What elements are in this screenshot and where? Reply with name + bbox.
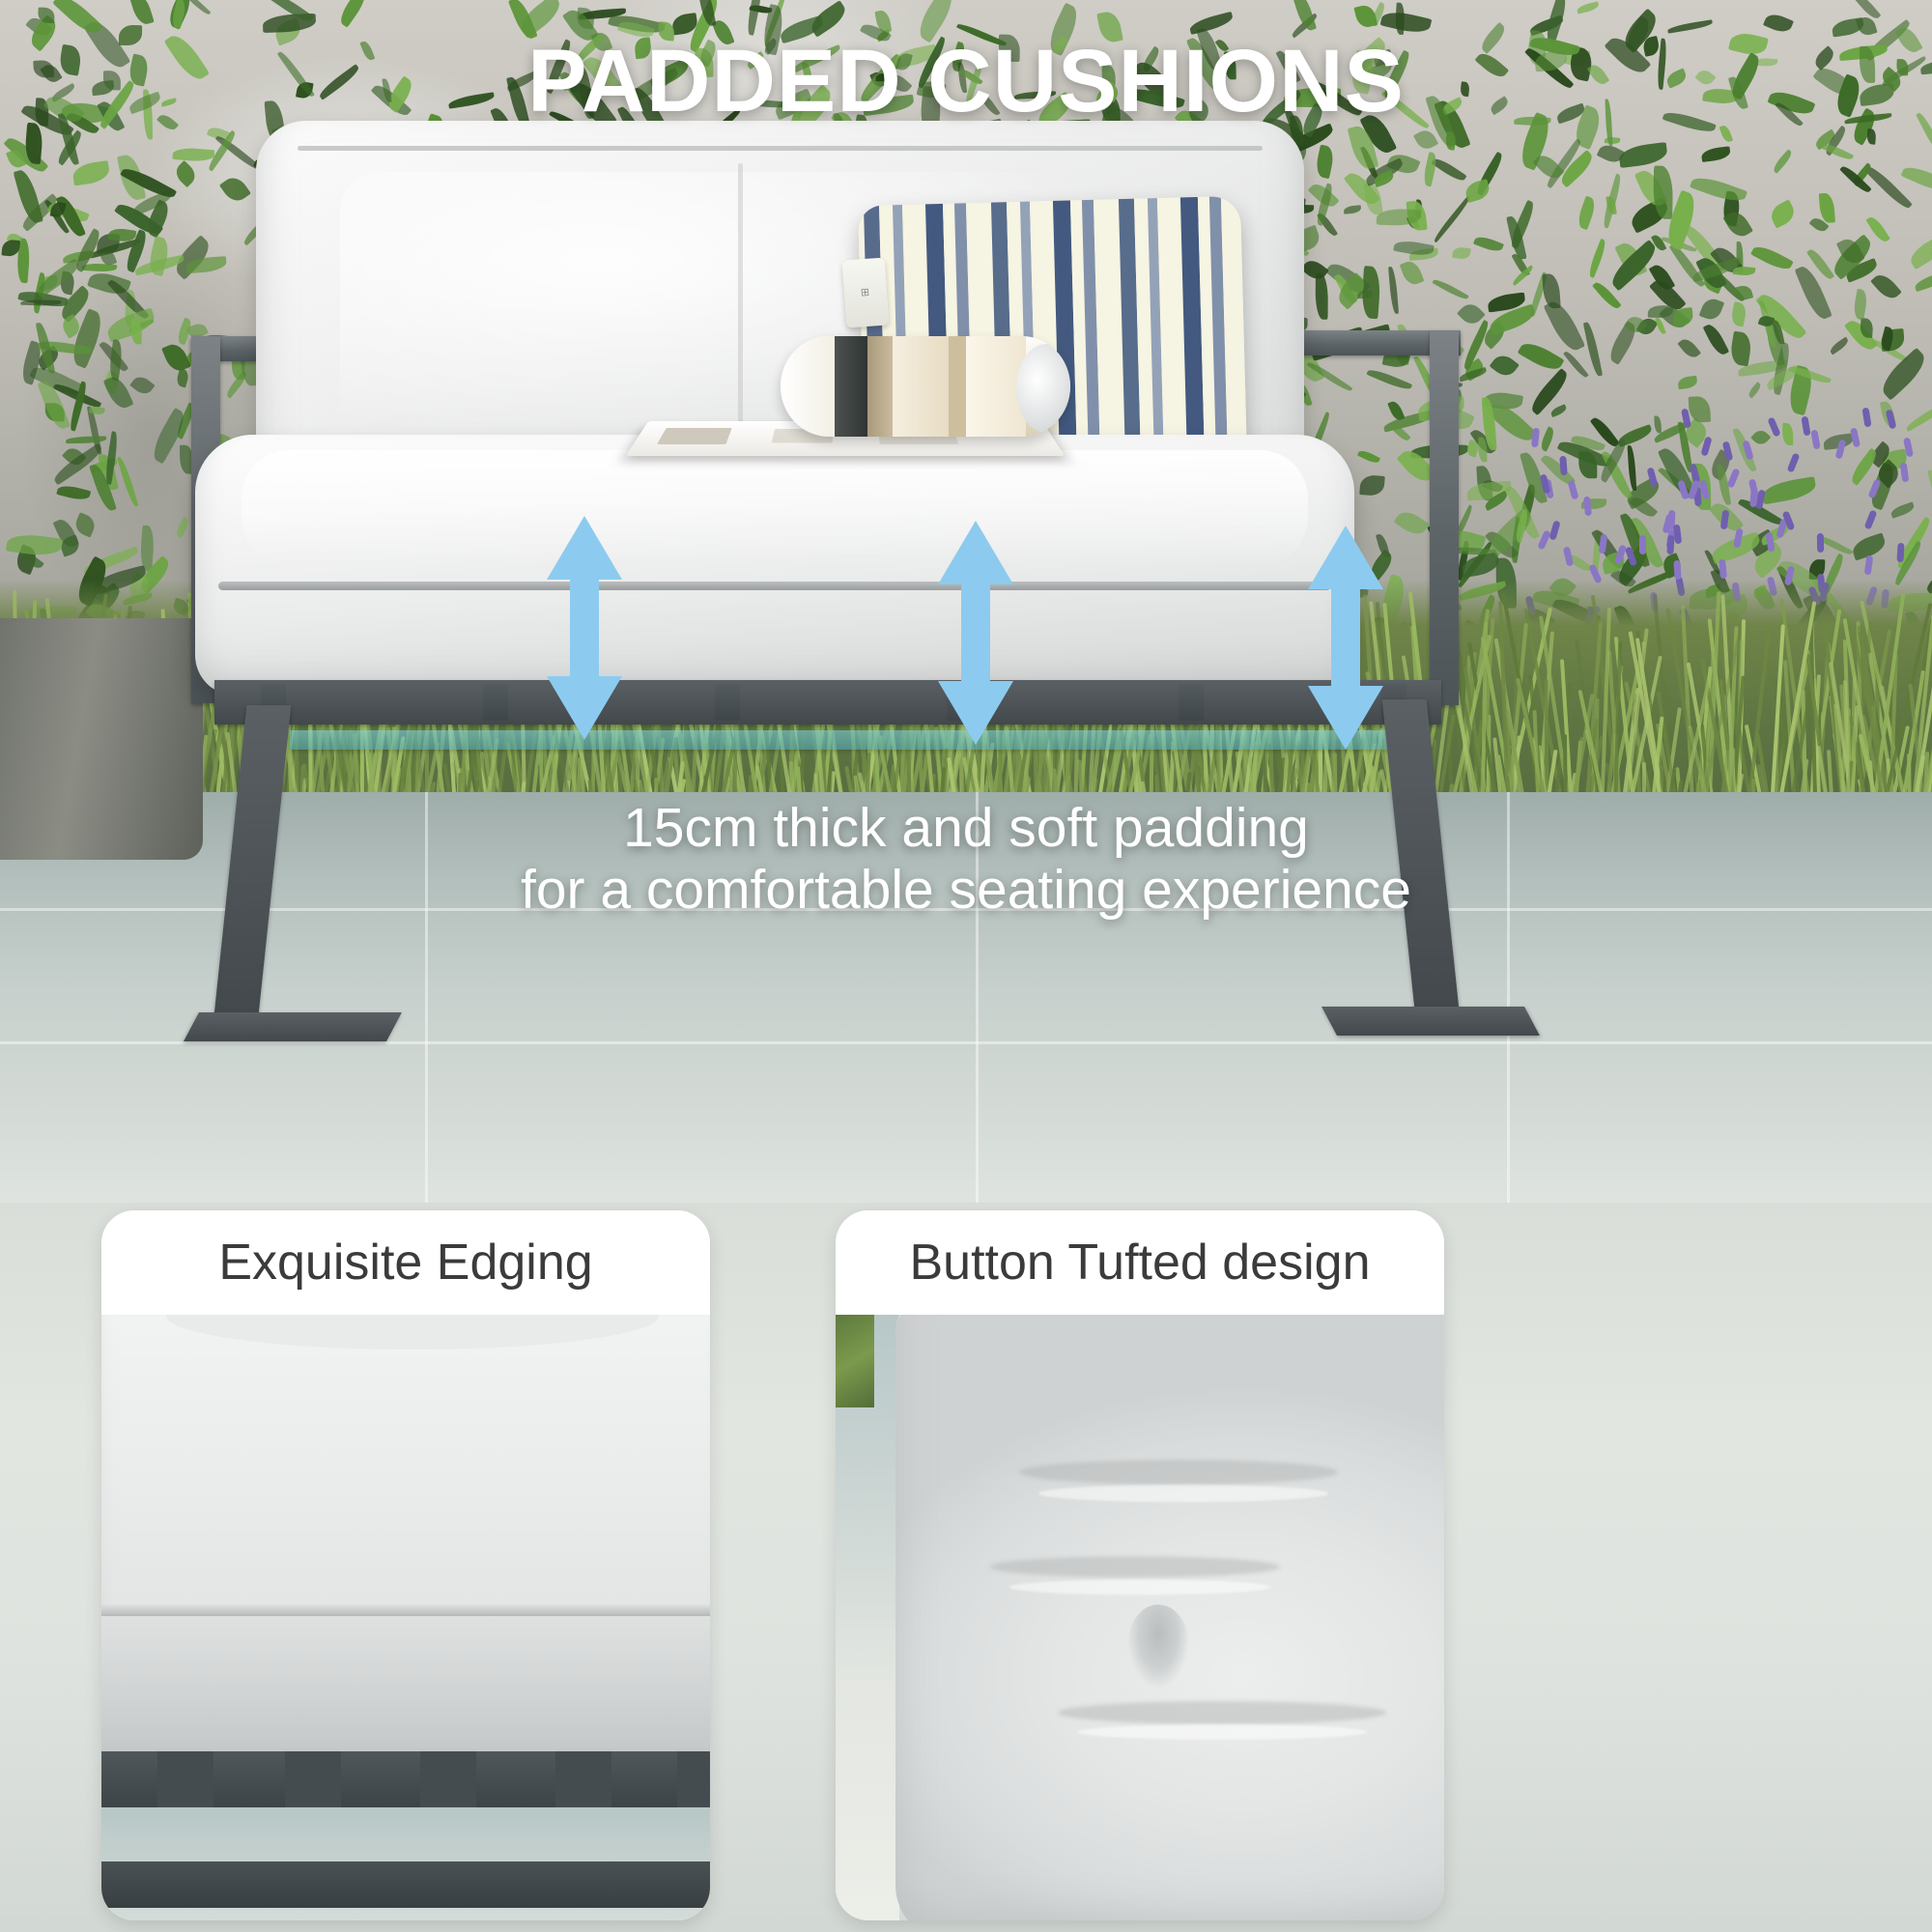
frame-foot-left xyxy=(184,1012,402,1041)
magazine-prop xyxy=(638,330,1063,475)
feature-card-photo-tufted xyxy=(836,1315,1444,1920)
feature-card-photo-edging xyxy=(101,1315,710,1920)
hero-scene: ⊞ xyxy=(0,0,1932,1203)
feature-callout-line-1: 15cm thick and soft padding xyxy=(0,798,1932,860)
feature-card-title: Exquisite Edging xyxy=(101,1210,710,1315)
pillow-care-tag: ⊞ xyxy=(842,258,890,328)
thickness-arrow-left xyxy=(541,512,628,744)
feature-card-title: Button Tufted design xyxy=(836,1210,1444,1315)
feature-callout: 15cm thick and soft padding for a comfor… xyxy=(0,798,1932,922)
thickness-arrow-right xyxy=(1302,522,1389,753)
frame-back-rail xyxy=(290,730,1410,750)
product-feature-banner: ⊞ xyxy=(0,0,1932,1932)
thickness-arrow-center xyxy=(932,517,1019,749)
page-title: PADDED CUSHIONS xyxy=(0,37,1932,126)
feature-card-exquisite-edging: Exquisite Edging xyxy=(101,1210,710,1920)
frame-arm-right-post xyxy=(1430,330,1459,705)
frame-foot-right xyxy=(1321,1007,1540,1036)
frame-front-apron xyxy=(214,680,1441,724)
feature-card-button-tufted: Button Tufted design xyxy=(836,1210,1444,1920)
feature-callout-line-2: for a comfortable seating experience xyxy=(0,860,1932,922)
seat-cushion-piping xyxy=(218,582,1331,590)
feature-cards-section: Exquisite Edging Button Tufted design xyxy=(0,1203,1932,1932)
